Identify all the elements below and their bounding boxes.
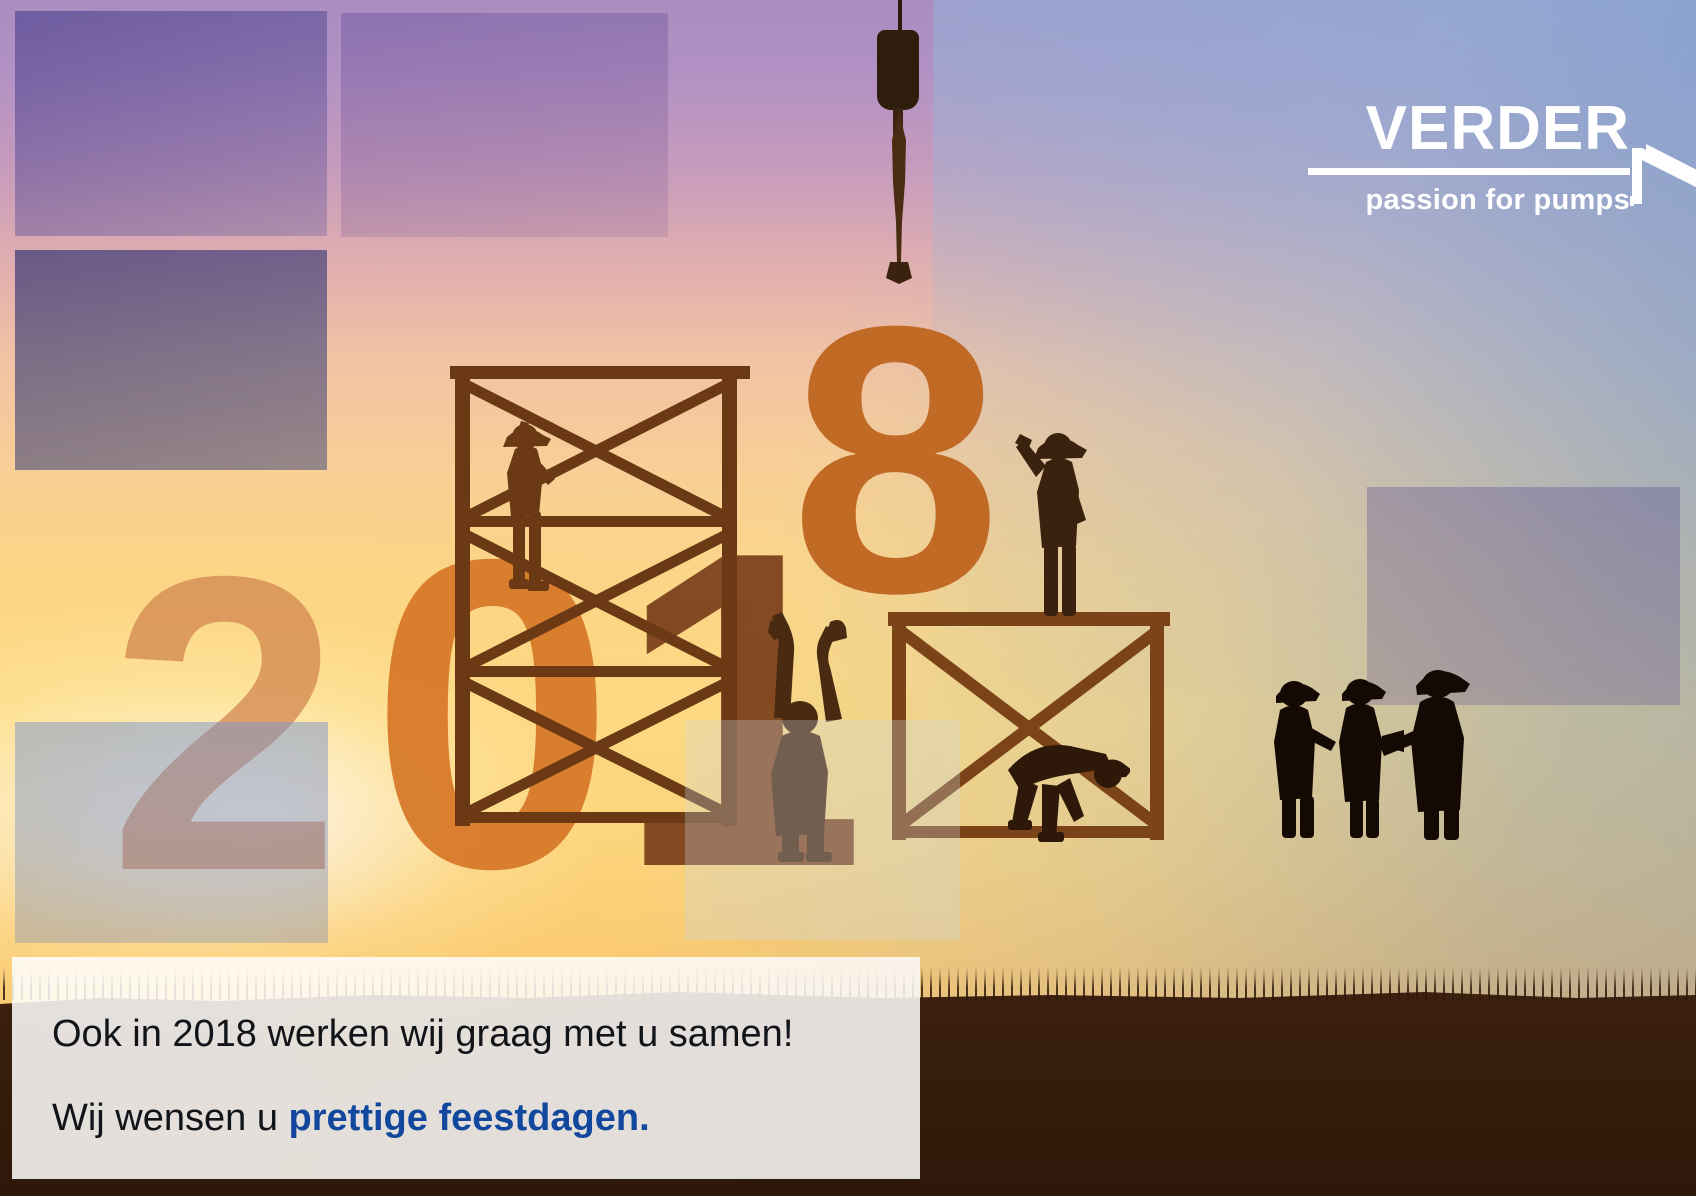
verder-arrow-icon (1630, 144, 1696, 206)
message-line-2: Wij wensen u prettige feestdagen. (52, 1099, 920, 1137)
message-panel: Ook in 2018 werken wij graag met u samen… (12, 957, 920, 1179)
worker-on-right-scaffold (1008, 418, 1104, 618)
greeting-card: 2 0 1 8 (0, 0, 1696, 1196)
message-line-2-prefix: Wij wensen u (52, 1097, 289, 1139)
worker-bending (1000, 730, 1130, 846)
message-line-2-accent: prettige feestdagen. (289, 1097, 650, 1139)
worker-on-left-scaffold (487, 415, 573, 615)
message-panel-inner: Ook in 2018 werken wij graag met u samen… (12, 957, 920, 1137)
logo-wordmark: VERDER (1366, 100, 1630, 159)
crane-hook-block (877, 30, 919, 110)
logo-wordmark-row: VERDER (1366, 100, 1630, 159)
numeral-8: 8 (790, 270, 1001, 650)
verder-logo[interactable]: VERDER passion for pumps (1308, 100, 1630, 217)
decor-rect-bottom-left (15, 722, 328, 943)
worker-group-right (1262, 650, 1478, 840)
decor-rect-center (685, 720, 960, 940)
message-line-1: Ook in 2018 werken wij graag met u samen… (52, 1015, 920, 1053)
logo-underline-rule (1308, 168, 1630, 175)
logo-tagline: passion for pumps (1308, 184, 1630, 217)
